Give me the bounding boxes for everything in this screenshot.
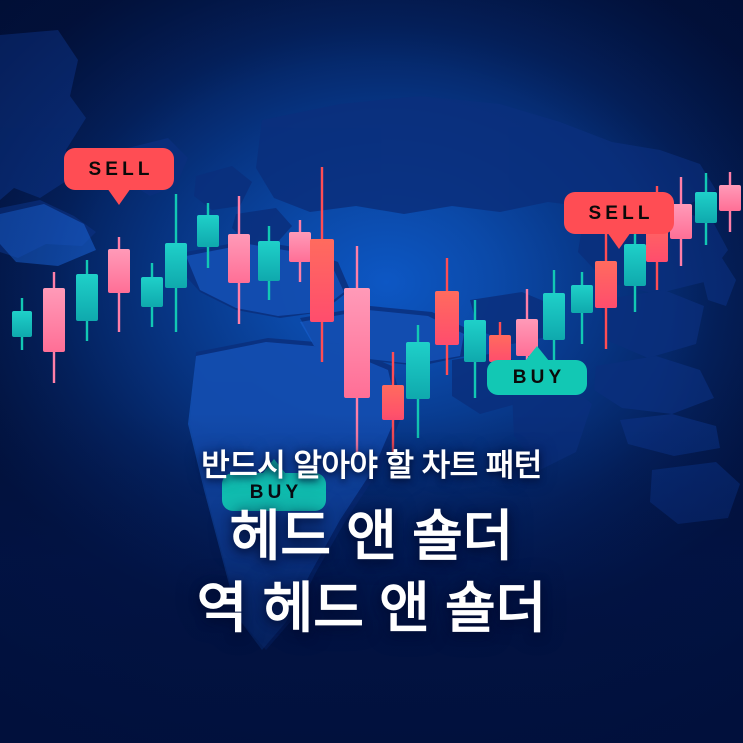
badge-tail-down-icon — [607, 232, 631, 249]
candle-body — [108, 249, 130, 293]
headline-block: 반드시 알아야 할 차트 패턴 헤드 앤 숄더 역 헤드 앤 숄더 — [0, 440, 743, 644]
badge-tail-up-icon — [525, 346, 549, 361]
badge-sell-right[interactable]: SELL — [564, 192, 674, 234]
candle-body — [141, 277, 163, 307]
candle-body — [595, 261, 617, 308]
candle-body — [12, 311, 32, 337]
badge-buy-right-label: BUY — [509, 368, 566, 387]
candle-body — [228, 234, 250, 283]
badge-sell-right-label: SELL — [584, 204, 653, 223]
candle-body — [197, 215, 219, 247]
badge-sell-left-label: SELL — [84, 160, 153, 179]
candle-body — [43, 288, 65, 352]
title-line-2: 역 헤드 앤 숄더 — [0, 573, 743, 645]
candle-body — [719, 185, 741, 211]
candle-body — [406, 342, 430, 399]
candle-body — [289, 232, 311, 262]
candle-body — [435, 291, 459, 345]
candle-body — [543, 293, 565, 340]
candle-body — [258, 241, 280, 281]
subtitle: 반드시 알아야 할 차트 패턴 — [0, 440, 743, 485]
candle-body — [489, 335, 511, 362]
candle-body — [464, 320, 486, 362]
candle-body — [310, 239, 334, 322]
candle-body — [76, 274, 98, 321]
title-line-1: 헤드 앤 숄더 — [0, 501, 743, 573]
badge-buy-right[interactable]: BUY — [487, 360, 587, 395]
poster-canvas: SELL SELL BUY BUY 반드시 알아야 할 차트 패턴 헤드 앤 숄… — [0, 0, 743, 743]
candle-body — [695, 192, 717, 223]
candle-body — [165, 243, 187, 288]
badge-tail-down-icon — [107, 188, 131, 205]
candle-body — [624, 244, 646, 286]
candle-body — [571, 285, 593, 313]
badge-sell-left[interactable]: SELL — [64, 148, 174, 190]
candle-body — [344, 288, 370, 398]
